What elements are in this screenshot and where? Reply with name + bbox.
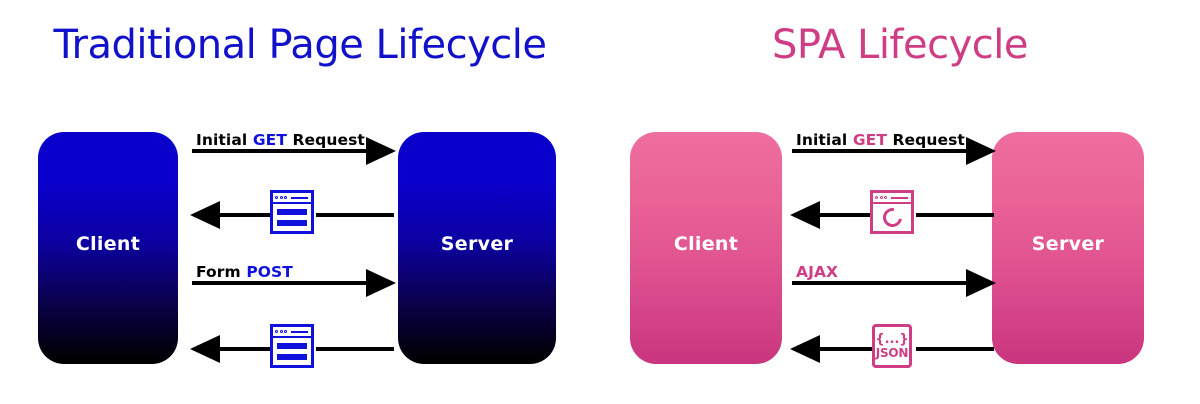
- arrow-head-left-icon: [190, 335, 220, 363]
- browser-dot-icon: [284, 196, 287, 199]
- browser-urlbar: [291, 331, 309, 333]
- arrow-line-left-segment: [218, 347, 270, 351]
- node-server-traditional: Server: [398, 132, 556, 364]
- arrow-head-left-icon: [190, 201, 220, 229]
- browser-dot-icon: [280, 330, 283, 333]
- browser-dot-icon: [275, 196, 278, 199]
- arrow-head-left-icon: [790, 201, 820, 229]
- arrow-line-right-segment: [916, 347, 994, 351]
- browser-dot-icon: [275, 330, 278, 333]
- browser-dot-icon: [284, 330, 287, 333]
- browser-spinner-icon: [870, 190, 914, 234]
- arrow-head-right-icon: [966, 269, 996, 297]
- browser-dot-icon: [875, 196, 878, 199]
- page-title-spa: SPA Lifecycle: [600, 22, 1200, 68]
- node-label-client: Client: [76, 233, 140, 255]
- browser-dot-icon: [280, 196, 283, 199]
- arrow-line: [192, 281, 368, 285]
- node-label-server: Server: [1032, 233, 1104, 255]
- content-line: [277, 354, 307, 360]
- browser-titlebar: [873, 193, 911, 204]
- arrow-line-left-segment: [818, 347, 872, 351]
- arrow-line-right-segment: [316, 347, 394, 351]
- arrow-head-right-icon: [366, 137, 396, 165]
- node-label-client: Client: [674, 233, 738, 255]
- node-label-server: Server: [441, 233, 513, 255]
- arrow-head-left-icon: [790, 335, 820, 363]
- node-client-traditional: Client: [38, 132, 178, 364]
- flow-label-prefix: Form: [196, 263, 246, 281]
- flow-label-form-post: Form POST: [196, 263, 293, 281]
- flow-label-initial-get-request: Initial GET Request: [796, 131, 965, 149]
- browser-content: [873, 204, 911, 231]
- flow-label-keyword-ajax: AJAX: [796, 263, 838, 281]
- flow-label-keyword-get: GET: [253, 131, 287, 149]
- arrow-line-right-segment: [316, 213, 394, 217]
- arrow-line-right-segment: [916, 213, 994, 217]
- node-server-spa: Server: [992, 132, 1144, 364]
- lifecycle-comparison-diagram: Traditional Page Lifecycle Client Server…: [0, 0, 1200, 404]
- arrow-line: [192, 149, 368, 153]
- flow-label-initial-get-request: Initial GET Request: [196, 131, 365, 149]
- browser-dot-icon: [880, 196, 883, 199]
- loading-spinner-icon: [879, 204, 905, 230]
- browser-titlebar: [273, 193, 311, 204]
- browser-titlebar: [273, 327, 311, 338]
- flow-label-keyword-get: GET: [853, 131, 887, 149]
- node-client-spa: Client: [630, 132, 782, 364]
- flow-label-ajax: AJAX: [796, 263, 838, 281]
- panel-traditional-lifecycle: Traditional Page Lifecycle Client Server…: [0, 0, 600, 404]
- content-line: [277, 209, 307, 215]
- flow-html-response-2-traditional: [192, 329, 394, 369]
- browser-urlbar: [291, 197, 309, 199]
- flow-app-shell-response-spa: [792, 195, 994, 235]
- json-payload-icon: {...} JSON: [872, 324, 912, 368]
- browser-dot-icon: [884, 196, 887, 199]
- arrow-line: [792, 149, 968, 153]
- browser-page-icon: [270, 190, 314, 234]
- flow-ajax-request-spa: AJAX: [792, 263, 994, 303]
- page-title-traditional: Traditional Page Lifecycle: [0, 22, 600, 68]
- flow-initial-get-request-spa: Initial GET Request: [792, 131, 994, 171]
- content-line: [277, 343, 307, 349]
- flow-html-response-traditional: [192, 195, 394, 235]
- arrow-head-right-icon: [366, 269, 396, 297]
- flow-label-prefix: Initial: [196, 131, 253, 149]
- flow-label-prefix: Initial: [796, 131, 853, 149]
- arrow-line: [792, 281, 968, 285]
- json-label: JSON: [876, 347, 909, 360]
- flow-label-keyword-post: POST: [246, 263, 293, 281]
- flow-label-suffix: Request: [887, 131, 965, 149]
- arrow-line-left-segment: [818, 213, 870, 217]
- browser-urlbar: [891, 197, 909, 199]
- content-line: [277, 220, 307, 226]
- flow-label-suffix: Request: [287, 131, 365, 149]
- browser-content: [273, 204, 311, 231]
- flow-initial-get-request-traditional: Initial GET Request: [192, 131, 394, 171]
- arrow-line-left-segment: [218, 213, 270, 217]
- json-braces-glyph: {...}: [875, 333, 908, 347]
- panel-spa-lifecycle: SPA Lifecycle Client Server Initial GET …: [600, 0, 1200, 404]
- browser-page-icon: [270, 324, 314, 368]
- flow-json-response-spa: {...} JSON: [792, 329, 994, 369]
- flow-form-post-traditional: Form POST: [192, 263, 394, 303]
- browser-content: [273, 338, 311, 365]
- arrow-head-right-icon: [966, 137, 996, 165]
